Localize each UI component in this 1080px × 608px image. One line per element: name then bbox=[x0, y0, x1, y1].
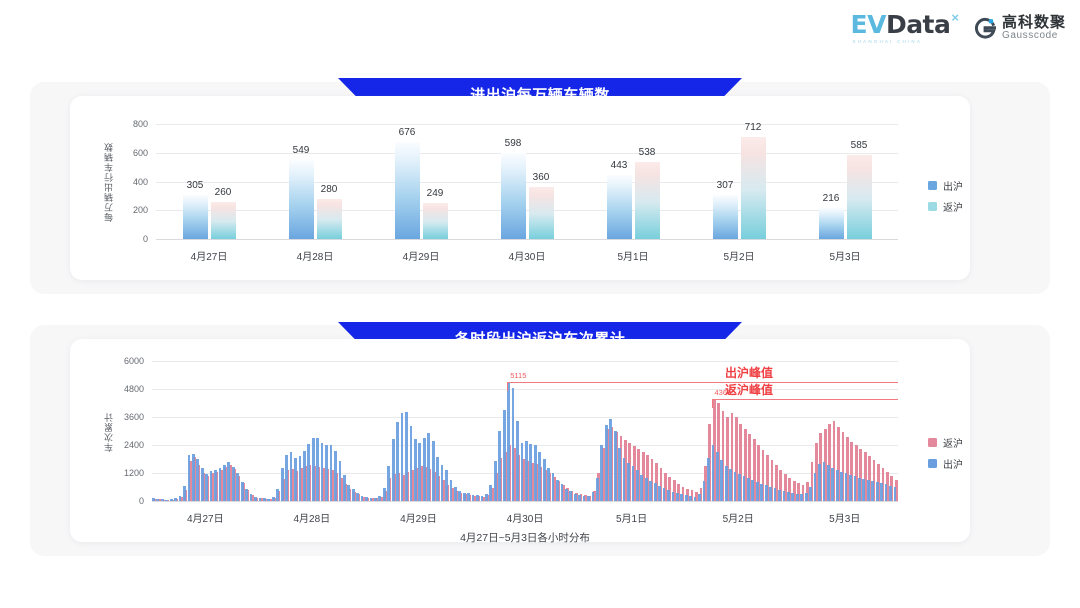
hbar-chart-2-depart-135 bbox=[751, 480, 754, 501]
gridline-chart-1 bbox=[156, 210, 898, 211]
hbar-chart-2-depart-67 bbox=[450, 480, 453, 501]
bar-value-chart-1-返沪-4月28日: 280 bbox=[321, 184, 338, 195]
y-tick-label-chart-2: 0 bbox=[139, 496, 144, 506]
hbar-chart-2-depart-51 bbox=[378, 496, 381, 501]
hbar-chart-2-depart-141 bbox=[778, 490, 781, 501]
bar-chart-1-返沪-4月27日 bbox=[211, 202, 236, 239]
evdata-data-text: Data bbox=[886, 10, 950, 39]
hbar-chart-2-depart-16 bbox=[223, 465, 226, 501]
gridline-chart-2 bbox=[152, 361, 898, 362]
gridline-chart-2 bbox=[152, 389, 898, 390]
bar-value-chart-1-返沪-4月29日: 249 bbox=[427, 188, 444, 199]
hbar-chart-2-depart-26 bbox=[267, 499, 270, 501]
legend-swatch-返沪 bbox=[928, 202, 937, 211]
x-tick-label-chart-1-4月30日: 4月30日 bbox=[509, 248, 546, 263]
hbar-chart-2-depart-80 bbox=[507, 382, 510, 501]
hbar-chart-2-depart-38 bbox=[321, 443, 324, 501]
hbar-chart-2-depart-72 bbox=[472, 495, 475, 501]
hbar-chart-2-depart-130 bbox=[729, 469, 732, 501]
gridline-chart-1 bbox=[156, 124, 898, 125]
hbar-chart-2-depart-15 bbox=[219, 468, 222, 501]
gausscode-cn-name: 高科数聚 bbox=[1002, 15, 1066, 31]
peak-tick-返沪峰值 bbox=[712, 399, 713, 408]
y-tick-label-chart-1: 800 bbox=[133, 119, 148, 129]
bar-chart-vehicles: 每万辆出行车辆数02004006008003052604月27日5492804月… bbox=[70, 96, 970, 280]
hbar-chart-2-depart-98 bbox=[587, 496, 590, 501]
hbar-chart-2-depart-137 bbox=[760, 484, 763, 501]
hbar-chart-2-depart-165 bbox=[885, 484, 888, 501]
y-tick-label-chart-2: 1200 bbox=[124, 468, 144, 478]
hbar-chart-2-depart-21 bbox=[245, 489, 248, 501]
hbar-chart-2-depart-48 bbox=[365, 497, 368, 501]
hbar-chart-2-depart-44 bbox=[347, 485, 350, 501]
hbar-chart-2-depart-93 bbox=[565, 489, 568, 501]
bar-chart-1-出沪-5月3日 bbox=[819, 208, 844, 239]
bar-chart-1-返沪-4月30日 bbox=[529, 187, 554, 239]
bar-chart-1-出沪-5月1日 bbox=[607, 175, 632, 239]
hbar-chart-2-depart-24 bbox=[259, 498, 262, 501]
gridline-chart-1 bbox=[156, 153, 898, 154]
hbar-chart-2-depart-111 bbox=[645, 478, 648, 501]
hbar-chart-2-depart-129 bbox=[725, 466, 728, 501]
hbar-chart-2-depart-62 bbox=[427, 433, 430, 501]
bar-value-chart-1-出沪-4月27日: 305 bbox=[187, 180, 204, 191]
bar-chart-1-出沪-4月27日 bbox=[183, 195, 208, 239]
peak-line-出沪峰值 bbox=[507, 382, 898, 383]
hbar-chart-2-depart-76 bbox=[489, 485, 492, 501]
bar-chart-hourly: 车次累计0120024003600480060005115出沪峰值4360返沪峰… bbox=[70, 339, 970, 542]
hbar-chart-2-depart-162 bbox=[871, 481, 874, 501]
hbar-chart-2-depart-81 bbox=[512, 388, 515, 501]
hbar-chart-2-depart-70 bbox=[463, 493, 466, 501]
x-axis-line-chart-1 bbox=[156, 239, 898, 240]
y-tick-label-chart-1: 0 bbox=[143, 234, 148, 244]
hbar-chart-2-depart-63 bbox=[432, 441, 435, 501]
x-tick-label-chart-2-4月29日: 4月29日 bbox=[400, 510, 437, 525]
bar-value-chart-1-返沪-5月3日: 585 bbox=[851, 140, 868, 151]
hbar-chart-2-depart-164 bbox=[880, 483, 883, 501]
hbar-chart-2-depart-14 bbox=[214, 470, 217, 502]
y-tick-label-chart-2: 3600 bbox=[124, 412, 144, 422]
hbar-chart-2-depart-75 bbox=[485, 494, 488, 501]
hbar-chart-2-depart-142 bbox=[783, 491, 786, 501]
hbar-chart-2-depart-66 bbox=[445, 470, 448, 501]
hbar-chart-2-depart-10 bbox=[196, 459, 199, 501]
hbar-chart-2-depart-18 bbox=[232, 467, 235, 501]
panel-2-card: 车次累计0120024003600480060005115出沪峰值4360返沪峰… bbox=[70, 339, 970, 542]
legend-item-chart-2-出沪[interactable]: 出沪 bbox=[928, 456, 963, 471]
x-axis-line-chart-2 bbox=[152, 501, 898, 502]
hbar-chart-2-depart-157 bbox=[849, 475, 852, 501]
x-tick-label-chart-2-4月30日: 4月30日 bbox=[507, 510, 544, 525]
hbar-chart-2-depart-132 bbox=[738, 474, 741, 501]
chart-panel-hourly: 各时段出沪返沪车次累计 车次累计012002400360048006000511… bbox=[30, 325, 1050, 556]
hbar-chart-2-depart-23 bbox=[254, 497, 257, 501]
hbar-chart-2-depart-139 bbox=[769, 487, 772, 501]
hbar-chart-2-depart-84 bbox=[525, 441, 528, 501]
hbar-chart-2-depart-122 bbox=[694, 497, 697, 501]
hbar-chart-2-depart-155 bbox=[840, 472, 843, 501]
hbar-chart-2-depart-94 bbox=[569, 491, 572, 501]
x-tick-label-chart-2-5月3日: 5月3日 bbox=[829, 510, 860, 525]
hbar-chart-2-depart-121 bbox=[689, 496, 692, 501]
gridline-chart-1 bbox=[156, 182, 898, 183]
hbar-chart-2-depart-148 bbox=[809, 487, 812, 501]
hbar-chart-2-depart-116 bbox=[667, 490, 670, 501]
y-axis-title-chart-1: 每万辆出行车辆数 bbox=[102, 128, 115, 237]
y-tick-label-chart-1: 400 bbox=[133, 177, 148, 187]
hbar-chart-2-depart-103 bbox=[609, 419, 612, 501]
hbar-chart-2-depart-110 bbox=[640, 475, 643, 501]
hbar-chart-2-depart-79 bbox=[503, 410, 506, 501]
hbar-chart-2-depart-86 bbox=[534, 445, 537, 501]
hbar-chart-2-depart-49 bbox=[370, 498, 373, 502]
evdata-wordmark: EVData bbox=[851, 12, 951, 37]
hbar-chart-2-depart-71 bbox=[467, 493, 470, 501]
hbar-chart-2-depart-156 bbox=[845, 473, 848, 501]
hbar-chart-2-depart-109 bbox=[636, 470, 639, 501]
hbar-chart-2-depart-0 bbox=[152, 498, 155, 501]
hbar-chart-2-depart-65 bbox=[441, 465, 444, 501]
hbar-chart-2-depart-59 bbox=[414, 439, 417, 501]
hbar-chart-2-depart-166 bbox=[889, 486, 892, 501]
bar-value-chart-1-出沪-5月1日: 443 bbox=[611, 160, 628, 171]
bar-value-chart-1-出沪-5月2日: 307 bbox=[717, 180, 734, 191]
evdata-ev-text: EV bbox=[851, 10, 886, 39]
hbar-chart-2-depart-40 bbox=[330, 445, 333, 501]
hbar-chart-2-depart-153 bbox=[831, 468, 834, 501]
hbar-chart-2-depart-112 bbox=[649, 481, 652, 501]
hbar-chart-2-depart-114 bbox=[658, 486, 661, 501]
gausscode-mark-icon bbox=[973, 17, 996, 40]
peak-value-出沪峰值: 5115 bbox=[510, 371, 526, 380]
peak-annotation-label-出沪峰值: 出沪峰值 bbox=[725, 364, 773, 381]
hbar-chart-2-depart-13 bbox=[210, 471, 213, 501]
hbar-chart-2-depart-126 bbox=[712, 445, 715, 501]
hbar-chart-2-depart-83 bbox=[521, 443, 524, 501]
bar-chart-1-出沪-5月2日 bbox=[713, 195, 738, 239]
gridline-chart-2 bbox=[152, 417, 898, 418]
hbar-chart-2-depart-101 bbox=[600, 445, 603, 501]
bar-value-chart-1-返沪-5月1日: 538 bbox=[639, 147, 656, 158]
legend-label-出沪: 出沪 bbox=[943, 456, 963, 471]
hbar-chart-2-depart-52 bbox=[383, 488, 386, 501]
hbar-chart-2-depart-99 bbox=[592, 492, 595, 501]
hbar-chart-2-depart-41 bbox=[334, 451, 337, 501]
hbar-chart-2-depart-19 bbox=[236, 473, 239, 501]
hbar-chart-2-depart-146 bbox=[800, 494, 803, 501]
hbar-chart-2-depart-143 bbox=[787, 492, 790, 501]
legend-chart-2: 返沪出沪 bbox=[928, 435, 963, 471]
hbar-chart-2-depart-17 bbox=[227, 462, 230, 501]
x-tick-label-chart-1-4月27日: 4月27日 bbox=[191, 248, 228, 263]
peak-annotation-label-返沪峰值: 返沪峰值 bbox=[725, 381, 773, 398]
hbar-chart-2-depart-28 bbox=[276, 489, 279, 501]
x-tick-label-chart-2-4月28日: 4月28日 bbox=[294, 510, 331, 525]
hbar-chart-2-depart-119 bbox=[680, 494, 683, 501]
peak-tick-出沪峰值 bbox=[507, 382, 508, 391]
legend-item-chart-2-返沪[interactable]: 返沪 bbox=[928, 435, 963, 450]
bar-chart-1-返沪-5月2日 bbox=[741, 137, 766, 239]
hbar-chart-2-depart-29 bbox=[281, 468, 284, 501]
hbar-chart-2-depart-20 bbox=[241, 482, 244, 501]
chart-panel-vehicles: 进出沪每万辆车辆数 每万辆出行车辆数02004006008003052604月2… bbox=[30, 82, 1050, 294]
hbar-chart-2-depart-50 bbox=[374, 498, 377, 501]
hbar-chart-2-depart-39 bbox=[325, 445, 328, 501]
hbar-chart-2-depart-118 bbox=[676, 493, 679, 501]
hbar-chart-2-depart-131 bbox=[734, 472, 737, 501]
bar-chart-1-出沪-4月29日 bbox=[395, 142, 420, 239]
hbar-chart-2-depart-120 bbox=[685, 495, 688, 501]
x-tick-label-chart-2-5月1日: 5月1日 bbox=[616, 510, 647, 525]
hbar-chart-2-depart-89 bbox=[547, 468, 550, 501]
hbar-chart-2-depart-163 bbox=[876, 482, 879, 501]
bar-value-chart-1-出沪-4月28日: 549 bbox=[293, 145, 310, 156]
hbar-chart-2-depart-88 bbox=[543, 459, 546, 501]
hbar-chart-2-depart-46 bbox=[356, 493, 359, 501]
hbar-chart-2-depart-54 bbox=[392, 439, 395, 501]
hbar-chart-2-depart-35 bbox=[307, 444, 310, 501]
legend-item-chart-1-出沪[interactable]: 出沪 bbox=[928, 178, 963, 193]
hbar-chart-2-depart-3 bbox=[165, 500, 168, 501]
hbar-chart-2-depart-9 bbox=[192, 454, 195, 501]
hbar-chart-2-depart-91 bbox=[556, 480, 559, 501]
evdata-logo: EVData × SHANGHAI CHINA bbox=[851, 12, 959, 44]
y-tick-label-chart-2: 6000 bbox=[124, 356, 144, 366]
hbar-chart-2-depart-33 bbox=[299, 456, 302, 502]
y-tick-label-chart-2: 2400 bbox=[124, 440, 144, 450]
legend-swatch-出沪 bbox=[928, 459, 937, 468]
x-tick-label-chart-1-4月29日: 4月29日 bbox=[403, 248, 440, 263]
hbar-chart-2-depart-36 bbox=[312, 438, 315, 501]
hbar-chart-2-depart-30 bbox=[285, 455, 288, 501]
legend-item-chart-1-返沪[interactable]: 返沪 bbox=[928, 199, 963, 214]
bar-value-chart-1-返沪-4月27日: 260 bbox=[215, 187, 232, 198]
hbar-chart-2-depart-25 bbox=[263, 498, 266, 501]
bar-value-chart-1-出沪-4月29日: 676 bbox=[399, 127, 416, 138]
hbar-chart-2-depart-45 bbox=[352, 489, 355, 501]
legend-swatch-返沪 bbox=[928, 438, 937, 447]
legend-chart-1: 出沪返沪 bbox=[928, 178, 963, 214]
hbar-chart-2-depart-161 bbox=[867, 480, 870, 501]
hbar-chart-2-depart-56 bbox=[401, 413, 404, 501]
bar-chart-1-出沪-4月30日 bbox=[501, 153, 526, 239]
hbar-chart-2-depart-125 bbox=[707, 458, 710, 501]
hbar-chart-2-depart-123 bbox=[698, 494, 701, 501]
hbar-chart-2-depart-78 bbox=[498, 431, 501, 501]
legend-label-返沪: 返沪 bbox=[943, 435, 963, 450]
hbar-chart-2-depart-12 bbox=[205, 474, 208, 501]
legend-label-返沪: 返沪 bbox=[943, 199, 963, 214]
hbar-chart-2-depart-61 bbox=[423, 438, 426, 501]
hbar-chart-2-depart-74 bbox=[481, 496, 484, 501]
hbar-chart-2-depart-6 bbox=[179, 496, 182, 501]
hbar-chart-2-depart-113 bbox=[654, 483, 657, 501]
hbar-chart-2-depart-108 bbox=[632, 466, 635, 501]
hbar-chart-2-depart-95 bbox=[574, 494, 577, 501]
hbar-chart-2-depart-27 bbox=[272, 497, 275, 501]
hbar-chart-2-depart-85 bbox=[529, 444, 532, 501]
hbar-chart-2-depart-60 bbox=[418, 443, 421, 501]
bar-value-chart-1-出沪-5月3日: 216 bbox=[823, 193, 840, 204]
y-tick-label-chart-1: 600 bbox=[133, 148, 148, 158]
legend-label-出沪: 出沪 bbox=[943, 178, 963, 193]
hbar-chart-2-depart-7 bbox=[183, 486, 186, 501]
hbar-chart-2-depart-150 bbox=[818, 464, 821, 501]
x-tick-label-chart-1-5月2日: 5月2日 bbox=[723, 248, 754, 263]
evdata-x-icon: × bbox=[951, 10, 959, 25]
hbar-chart-2-depart-1 bbox=[156, 499, 159, 501]
hbar-chart-2-depart-102 bbox=[605, 425, 608, 501]
hbar-chart-2-depart-115 bbox=[663, 488, 666, 501]
x-tick-label-chart-1-5月3日: 5月3日 bbox=[829, 248, 860, 263]
bar-value-chart-1-返沪-4月30日: 360 bbox=[533, 172, 550, 183]
bar-chart-1-返沪-5月1日 bbox=[635, 162, 660, 239]
hbar-chart-2-depart-127 bbox=[716, 452, 719, 501]
hbar-chart-2-depart-90 bbox=[552, 473, 555, 501]
hbar-chart-2-depart-151 bbox=[823, 462, 826, 501]
hbar-chart-2-depart-34 bbox=[303, 451, 306, 501]
hbar-chart-2-depart-57 bbox=[405, 412, 408, 501]
hbar-chart-2-depart-100 bbox=[596, 478, 599, 501]
hbar-chart-2-depart-82 bbox=[516, 421, 519, 502]
peak-line-返沪峰值 bbox=[712, 399, 899, 400]
x-tick-label-chart-2-5月2日: 5月2日 bbox=[723, 510, 754, 525]
x-tick-label-chart-1-5月1日: 5月1日 bbox=[617, 248, 648, 263]
hbar-chart-2-depart-140 bbox=[774, 488, 777, 501]
panel-1-card: 每万辆出行车辆数02004006008003052604月27日5492804月… bbox=[70, 96, 970, 280]
x-tick-label-chart-1-4月28日: 4月28日 bbox=[297, 248, 334, 263]
hbar-chart-2-depart-4 bbox=[170, 499, 173, 501]
hbar-chart-2-depart-31 bbox=[290, 452, 293, 501]
hbar-chart-2-depart-147 bbox=[805, 493, 808, 501]
hbar-chart-2-depart-134 bbox=[747, 478, 750, 501]
hbar-chart-2-depart-136 bbox=[756, 482, 759, 501]
hbar-chart-2-depart-69 bbox=[458, 491, 461, 501]
hbar-chart-2-depart-22 bbox=[250, 494, 253, 501]
hbar-chart-2-depart-37 bbox=[316, 438, 319, 501]
hbar-chart-2-depart-68 bbox=[454, 487, 457, 501]
hbar-chart-2-depart-105 bbox=[618, 448, 621, 501]
hbar-chart-2-depart-97 bbox=[583, 496, 586, 501]
bar-chart-1-返沪-4月28日 bbox=[317, 199, 342, 239]
hbar-chart-2-depart-149 bbox=[814, 473, 817, 501]
hbar-chart-2-depart-145 bbox=[796, 494, 799, 501]
hbar-chart-2-depart-87 bbox=[538, 452, 541, 501]
hbar-chart-2-depart-47 bbox=[361, 496, 364, 501]
brand-header: EVData × SHANGHAI CHINA 高科数聚 Gausscode bbox=[851, 12, 1067, 44]
hbar-chart-2-depart-2 bbox=[161, 499, 164, 501]
hbar-chart-2-depart-43 bbox=[343, 475, 346, 501]
hbar-chart-2-depart-117 bbox=[672, 492, 675, 501]
gausscode-en-name: Gausscode bbox=[1002, 31, 1066, 42]
y-axis-title-chart-2: 车次累计 bbox=[102, 365, 115, 499]
hbar-chart-2-depart-42 bbox=[339, 461, 342, 501]
hbar-chart-2-depart-133 bbox=[743, 476, 746, 501]
hbar-chart-2-depart-154 bbox=[836, 470, 839, 501]
y-tick-label-chart-1: 200 bbox=[133, 205, 148, 215]
legend-swatch-出沪 bbox=[928, 181, 937, 190]
hbar-chart-2-depart-138 bbox=[765, 485, 768, 501]
hbar-chart-2-depart-64 bbox=[436, 457, 439, 501]
hbar-chart-2-depart-5 bbox=[174, 498, 177, 501]
hbar-chart-2-depart-158 bbox=[854, 476, 857, 501]
hbar-chart-2-depart-77 bbox=[494, 461, 497, 501]
x-tick-label-chart-2-4月27日: 4月27日 bbox=[187, 510, 224, 525]
hbar-chart-2-depart-159 bbox=[858, 478, 861, 501]
hbar-chart-2-depart-32 bbox=[294, 458, 297, 501]
hbar-chart-2-depart-53 bbox=[387, 466, 390, 501]
evdata-tagline: SHANGHAI CHINA bbox=[853, 39, 923, 44]
hbar-chart-2-depart-11 bbox=[201, 468, 204, 501]
hbar-chart-2-depart-152 bbox=[827, 465, 830, 501]
hbar-chart-2-depart-104 bbox=[614, 431, 617, 501]
hbar-chart-2-depart-58 bbox=[410, 426, 413, 501]
hbar-chart-2-depart-96 bbox=[578, 495, 581, 501]
bar-value-chart-1-出沪-4月30日: 598 bbox=[505, 138, 522, 149]
hbar-chart-2-depart-124 bbox=[703, 481, 706, 501]
hbar-chart-2-depart-160 bbox=[862, 479, 865, 501]
hbar-chart-2-depart-73 bbox=[476, 495, 479, 501]
hbar-chart-2-depart-92 bbox=[561, 484, 564, 501]
bar-chart-1-返沪-4月29日 bbox=[423, 203, 448, 239]
hbar-chart-2-depart-55 bbox=[396, 422, 399, 501]
hbar-chart-2-depart-106 bbox=[623, 458, 626, 501]
y-tick-label-chart-2: 4800 bbox=[124, 384, 144, 394]
hbar-chart-2-depart-144 bbox=[791, 493, 794, 501]
bar-value-chart-1-返沪-5月2日: 712 bbox=[745, 122, 762, 133]
hbar-chart-2-depart-107 bbox=[627, 463, 630, 501]
hbar-chart-2-depart-128 bbox=[720, 460, 723, 501]
gausscode-logo: 高科数聚 Gausscode bbox=[973, 15, 1066, 41]
bar-chart-1-返沪-5月3日 bbox=[847, 155, 872, 239]
bar-chart-1-出沪-4月28日 bbox=[289, 160, 314, 239]
hbar-chart-2-depart-167 bbox=[894, 487, 897, 501]
hbar-chart-2-depart-8 bbox=[188, 455, 191, 501]
x-axis-caption-chart-2: 4月27日~5月3日各小时分布 bbox=[460, 530, 590, 545]
